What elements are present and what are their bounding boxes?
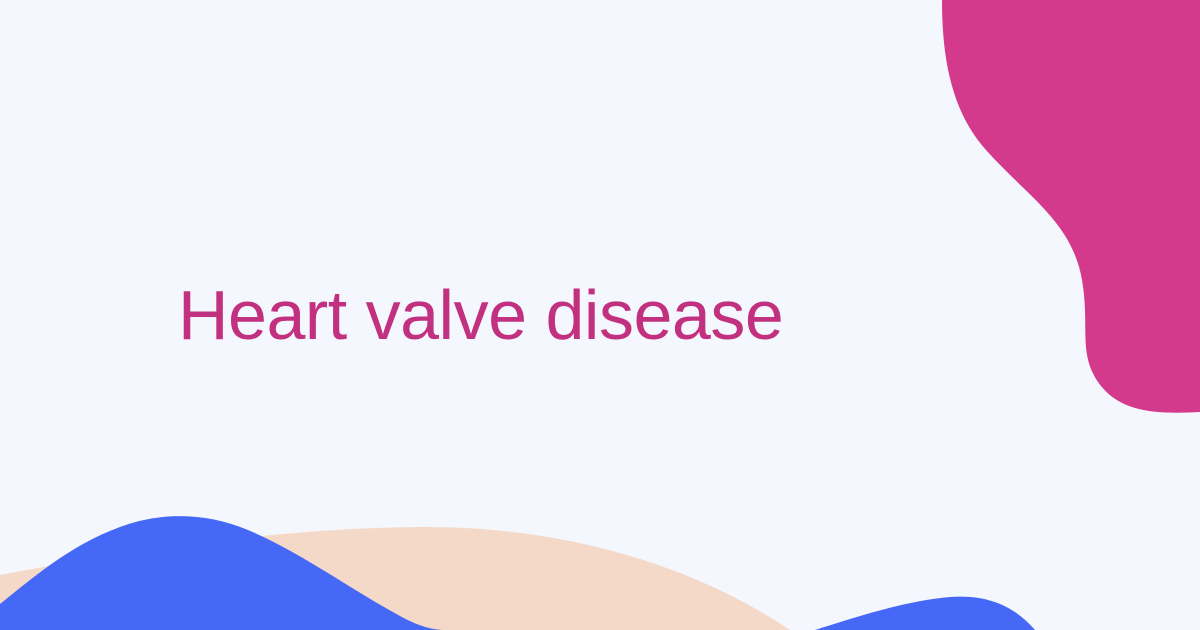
social-share-card: Heart valve disease [0, 0, 1200, 630]
page-title: Heart valve disease [178, 276, 783, 354]
title-block: Heart valve disease [0, 0, 1200, 630]
